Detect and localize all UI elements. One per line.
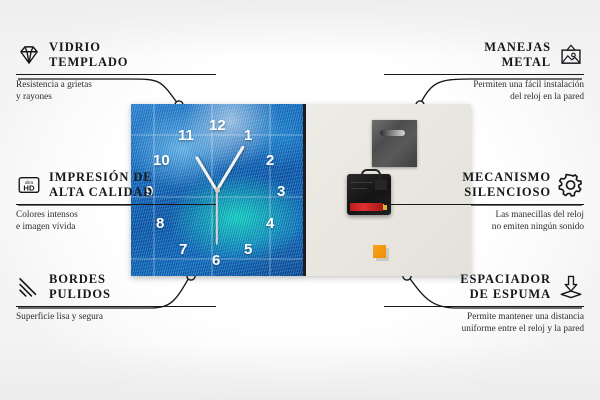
foam-spacer xyxy=(373,245,386,258)
arrow-onto-pad-icon xyxy=(558,274,584,300)
callout-manejas-metal[interactable]: MANEJAS METAL Permiten una fácil instala… xyxy=(384,40,584,104)
callout-title: IMPRESIÓN DE ALTA CALIDAD xyxy=(49,170,153,200)
clock-numeral-5: 5 xyxy=(244,242,252,257)
diamond-icon xyxy=(16,42,42,68)
clock-numeral-11: 11 xyxy=(178,128,194,143)
clock-numeral-4: 4 xyxy=(266,216,274,231)
callout-title: MANEJAS METAL xyxy=(484,40,551,70)
callout-impresion-alta-calidad[interactable]: ultra HD IMPRESIÓN DE ALTA CALIDAD Color… xyxy=(16,170,216,234)
callout-mecanismo-silencioso[interactable]: MECANISMO SILENCIOSO Las manecillas del … xyxy=(384,170,584,234)
mechanism-detail-line xyxy=(351,182,373,183)
mechanism-detail-line xyxy=(351,188,367,189)
callout-subtitle-line2: del reloj en la pared xyxy=(384,91,584,103)
diagonal-lines-icon xyxy=(16,274,42,300)
callout-divider xyxy=(16,204,216,205)
callout-title: ESPACIADOR DE ESPUMA xyxy=(460,272,551,302)
callout-subtitle-line1: Resistencia a grietas xyxy=(16,79,216,91)
callout-divider xyxy=(384,74,584,75)
callout-subtitle-line1: Las manecillas del reloj xyxy=(384,209,584,221)
metal-hanger-plate xyxy=(372,120,417,167)
callout-subtitle-line1: Superficie lisa y segura xyxy=(16,311,216,323)
callout-espaciador-de-espuma[interactable]: ESPACIADOR DE ESPUMA Permite mantener un… xyxy=(384,272,584,336)
clock-numeral-10: 10 xyxy=(153,153,170,168)
callout-subtitle-line2: uniforme entre el reloj y la pared xyxy=(384,323,584,335)
callout-header: MECANISMO SILENCIOSO xyxy=(384,170,584,200)
callout-subtitle-line1: Permiten una fácil instalación xyxy=(384,79,584,91)
clock-numeral-7: 7 xyxy=(179,242,187,257)
clock-numeral-6: 6 xyxy=(212,253,220,268)
ultra-hd-icon: ultra HD xyxy=(16,172,42,198)
callout-header: ultra HD IMPRESIÓN DE ALTA CALIDAD xyxy=(16,170,216,200)
callout-subtitle-line1: Permite mantener una distancia xyxy=(384,311,584,323)
svg-text:HD: HD xyxy=(23,183,35,192)
clock-numeral-1: 1 xyxy=(244,128,252,143)
callout-header: ESPACIADOR DE ESPUMA xyxy=(384,272,584,302)
callout-subtitle-line2: e imagen vívida xyxy=(16,221,216,233)
mechanism-hanging-loop xyxy=(361,169,381,179)
battery xyxy=(350,203,383,211)
callout-divider xyxy=(16,74,216,75)
callout-bordes-pulidos[interactable]: BORDES PULIDOS Superficie lisa y segura xyxy=(16,272,216,323)
callout-header: BORDES PULIDOS xyxy=(16,272,216,302)
callout-subtitle-line1: Colores intensos xyxy=(16,209,216,221)
gear-icon xyxy=(558,172,584,198)
hanger-slot xyxy=(380,130,405,136)
callout-subtitle-line2: no emiten ningún sonido xyxy=(384,221,584,233)
callout-header: VIDRIO TEMPLADO xyxy=(16,40,216,70)
callout-title: MECANISMO SILENCIOSO xyxy=(462,170,551,200)
callout-divider xyxy=(384,204,584,205)
clock-numeral-3: 3 xyxy=(277,184,285,199)
framed-picture-icon xyxy=(558,42,584,68)
infographic-canvas: 12 1 2 3 4 5 6 7 8 9 10 11 xyxy=(0,0,600,400)
callout-title: BORDES PULIDOS xyxy=(49,272,111,302)
callout-divider xyxy=(16,306,216,307)
clock-numeral-12: 12 xyxy=(209,118,226,133)
callout-header: MANEJAS METAL xyxy=(384,40,584,70)
callout-title: VIDRIO TEMPLADO xyxy=(49,40,128,70)
callout-divider xyxy=(384,306,584,307)
clock-numeral-2: 2 xyxy=(266,153,274,168)
clock-second-hand xyxy=(216,191,218,245)
callout-vidrio-templado[interactable]: VIDRIO TEMPLADO Resistencia a grietas y … xyxy=(16,40,216,104)
callout-subtitle-line2: y rayones xyxy=(16,91,216,103)
